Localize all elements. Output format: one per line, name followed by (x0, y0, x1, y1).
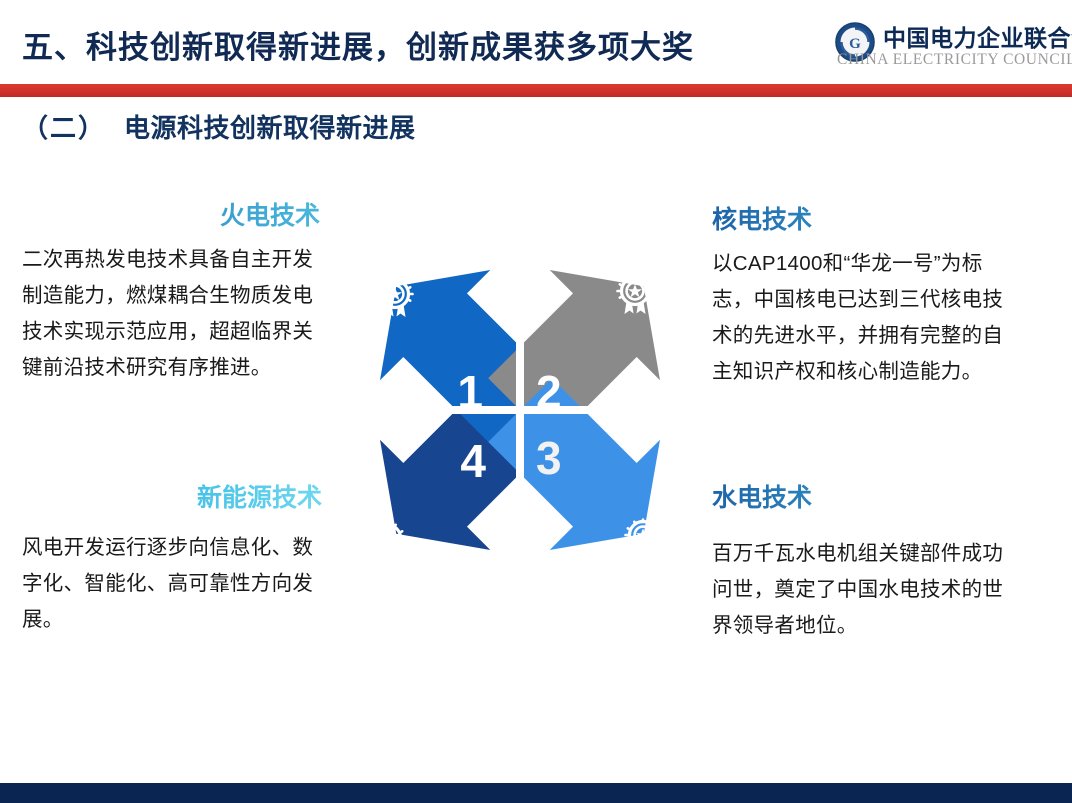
logo-english-name: CHINA ELECTRICITY COUNCIL (837, 51, 1072, 69)
quadrant-nuclear-power: 核电技术 以CAP1400和“华龙一号”为标志，中国核电已达到三代核电技术的先进… (712, 200, 1012, 390)
arrow-number-2: 2 (536, 366, 562, 418)
header-divider (0, 84, 1072, 97)
quadrant-heading-1: 火电技术 (22, 196, 320, 232)
section-heading: （二）电源科技创新取得新进展 (22, 108, 416, 145)
footer-bar (0, 783, 1072, 803)
quadrant-body-2: 以CAP1400和“华龙一号”为标志，中国核电已达到三代核电技术的先进水平，并拥… (712, 246, 1012, 390)
slide-header: 五、科技创新取得新进展，创新成果获多项大奖 G 中国电力企业联合会 CHINA … (0, 0, 1072, 83)
quadrant-body-1: 二次再热发电技术具备自主开发制造能力，燃煤耦合生物质发电技术实现示范应用，超超临… (22, 242, 322, 386)
svg-text:G: G (849, 36, 861, 52)
slide-canvas: 五、科技创新取得新进展，创新成果获多项大奖 G 中国电力企业联合会 CHINA … (0, 0, 1072, 803)
x-arrow-diagram: 1 2 3 4 (340, 230, 700, 590)
quadrant-hydro-power: 水电技术 百万千瓦水电机组关键部件成功问世，奠定了中国水电技术的世界领导者地位。 (712, 478, 1022, 644)
quadrant-heading-3: 水电技术 (712, 478, 1022, 514)
quadrant-thermal-power: 火电技术 二次再热发电技术具备自主开发制造能力，燃煤耦合生物质发电技术实现示范应… (22, 196, 322, 386)
logo-chinese-name: 中国电力企业联合会 (883, 19, 1072, 53)
arrow-number-3: 3 (536, 432, 562, 484)
quadrant-heading-4: 新能源技术 (22, 478, 322, 514)
quadrant-body-3: 百万千瓦水电机组关键部件成功问世，奠定了中国水电技术的世界领导者地位。 (712, 536, 1022, 644)
quadrant-heading-2: 核电技术 (712, 200, 1012, 236)
quadrant-body-4: 风电开发运行逐步向信息化、数字化、智能化、高可靠性方向发展。 (22, 530, 322, 638)
arrow-number-4: 4 (460, 435, 486, 487)
section-title-text: 电源科技创新取得新进展 (124, 113, 416, 143)
arrow-number-1: 1 (457, 366, 483, 418)
section-number: （二） (22, 113, 106, 143)
quadrant-new-energy: 新能源技术 风电开发运行逐步向信息化、数字化、智能化、高可靠性方向发展。 (22, 478, 322, 638)
page-title: 五、科技创新取得新进展，创新成果获多项大奖 (22, 22, 694, 67)
organization-logo: G 中国电力企业联合会 CHINA ELECTRICITY COUNCIL (835, 18, 1063, 76)
